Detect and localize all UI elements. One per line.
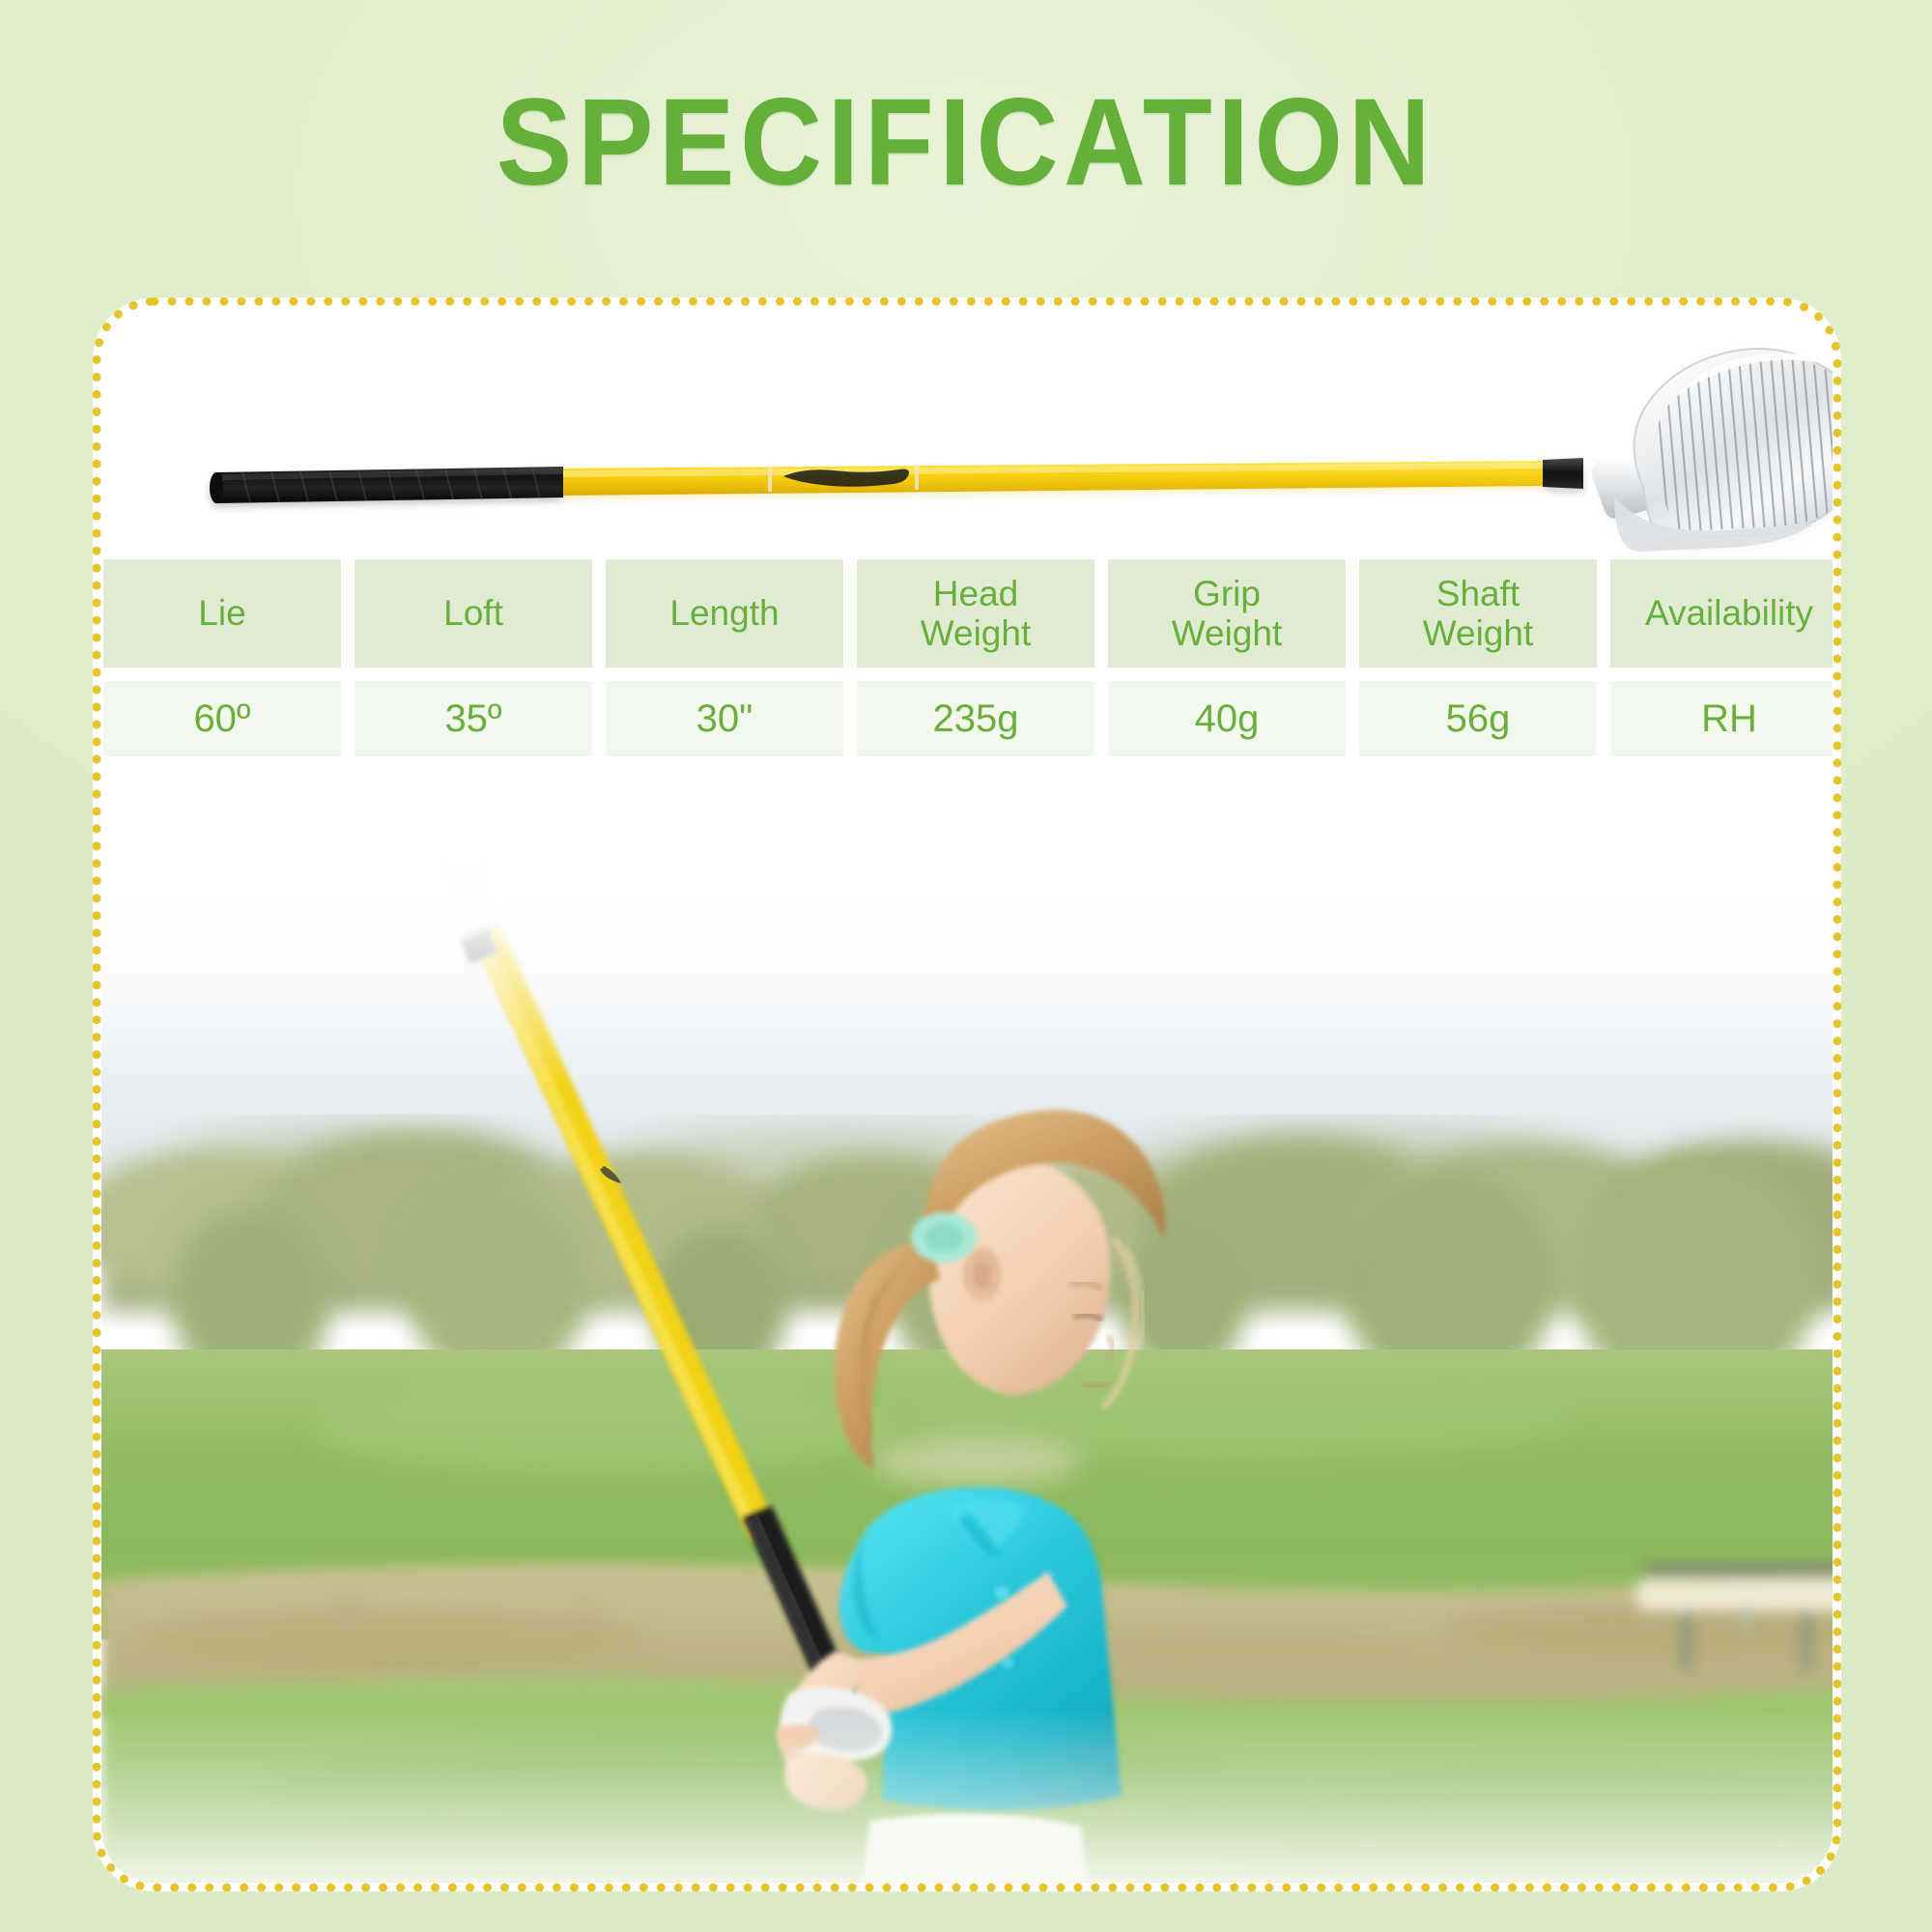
club-head bbox=[1634, 349, 1833, 552]
table-value-cell-head-weight: 235g bbox=[857, 681, 1094, 756]
page-title: SPECIFICATION bbox=[77, 81, 1855, 205]
specification-card: Lie Loft Length Head Weight Grip Weight … bbox=[93, 298, 1841, 1891]
golf-club-body bbox=[210, 349, 1833, 552]
table-value-cell-availability: RH bbox=[1610, 681, 1833, 756]
table-header-cell-head-weight: Head Weight bbox=[857, 559, 1094, 668]
table-header-cell-loft: Loft bbox=[355, 559, 592, 668]
table-value-cell-grip-weight: 40g bbox=[1108, 681, 1346, 756]
table-header-cell-grip-weight: Grip Weight bbox=[1108, 559, 1346, 668]
lifestyle-photo bbox=[101, 847, 1833, 1883]
table-value-cell-shaft-weight: 56g bbox=[1359, 681, 1597, 756]
table-header-cell-shaft-weight: Shaft Weight bbox=[1359, 559, 1597, 668]
club-grip bbox=[210, 467, 563, 503]
specification-card-inner: Lie Loft Length Head Weight Grip Weight … bbox=[101, 306, 1833, 1883]
table-header-row: Lie Loft Length Head Weight Grip Weight … bbox=[103, 559, 1833, 668]
table-value-row: 60º 35º 30" 235g 40g 56g RH bbox=[103, 681, 1833, 756]
table-header-cell-lie: Lie bbox=[103, 559, 341, 668]
skirt bbox=[843, 1813, 1102, 1883]
page-header: SPECIFICATION bbox=[0, 81, 1932, 205]
table-value-cell-length: 30" bbox=[606, 681, 843, 756]
table-value-cell-lie: 60º bbox=[103, 681, 341, 756]
table-header-cell-length: Length bbox=[606, 559, 843, 668]
club-ferrule bbox=[1543, 458, 1583, 489]
table-header-cell-availability: Availability bbox=[1610, 559, 1833, 668]
golf-course-scene bbox=[101, 847, 1833, 1883]
specification-table: Lie Loft Length Head Weight Grip Weight … bbox=[101, 559, 1833, 756]
table-value-cell-loft: 35º bbox=[355, 681, 592, 756]
